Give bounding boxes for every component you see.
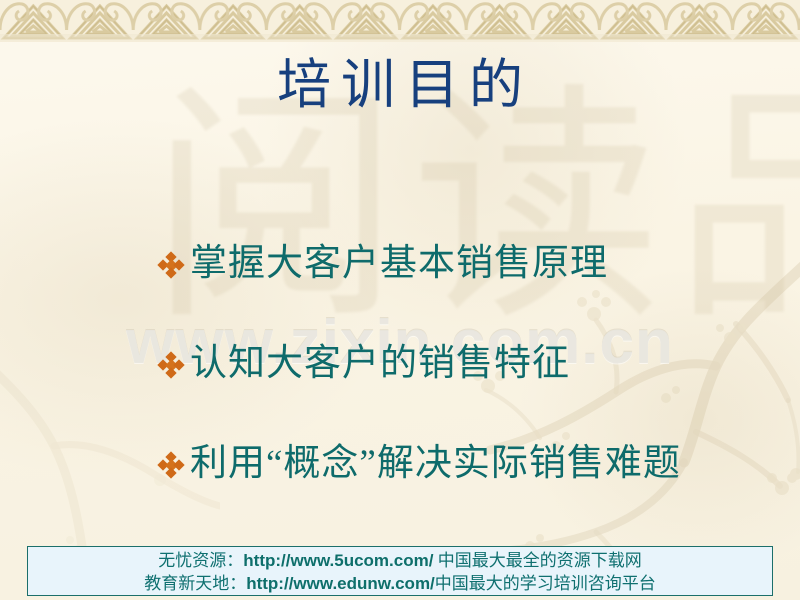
meander-pattern [0,0,800,42]
footer-link-edunw[interactable]: http://www.edunw.com/ [246,574,435,593]
bullet-list: 掌握大客户基本销售原理 认知大客户的销售特征 利用“概念”解决实际销售难题 [0,214,800,514]
footer-line-suffix: 中国最大的学习培训咨询平台 [435,574,656,593]
top-ornamental-border [0,0,800,42]
footer-credit-box: 无忧资源：http://www.5ucom.com/ 中国最大最全的资源下载网 … [27,546,773,596]
footer-line: 无忧资源：http://www.5ucom.com/ 中国最大最全的资源下载网 [28,549,772,572]
diamond-cluster-icon [158,452,184,478]
list-item-label: 认知大客户的销售特征 [190,342,570,386]
slide-canvas: 阅读品 [0,0,800,600]
list-item-label: 利用“概念”解决实际销售难题 [190,442,681,486]
diamond-cluster-icon [158,252,184,278]
list-item: 掌握大客户基本销售原理 [0,214,800,314]
diamond-cluster-icon [158,352,184,378]
page-title: 培训目的 [0,52,800,118]
footer-line: 教育新天地：http://www.edunw.com/中国最大的学习培训咨询平台 [28,572,772,595]
footer-line-prefix: 教育新天地： [144,574,246,593]
list-item-label: 掌握大客户基本销售原理 [190,242,608,286]
footer-line-suffix: 中国最大最全的资源下载网 [433,551,641,570]
list-item: 认知大客户的销售特征 [0,314,800,414]
footer-line-prefix: 无忧资源： [158,551,243,570]
footer-link-5ucom[interactable]: http://www.5ucom.com/ [243,551,433,570]
list-item: 利用“概念”解决实际销售难题 [0,414,800,514]
